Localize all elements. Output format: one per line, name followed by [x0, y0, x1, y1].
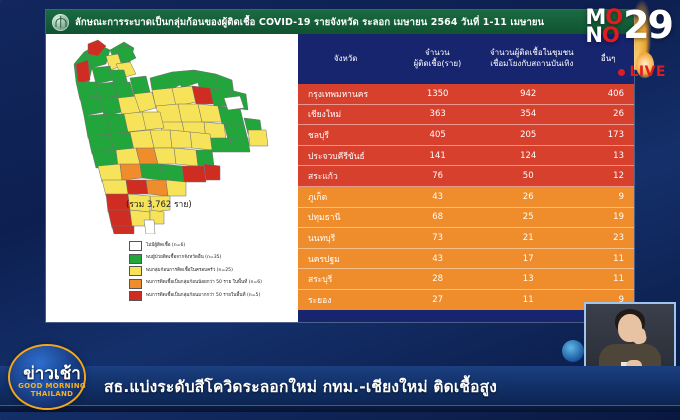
slide-body: (รวม 3,762 ราย) ไม่มีผู้ติดเชื้อ (n=6) พ…	[46, 34, 634, 322]
ministry-of-public-health-emblem-icon	[52, 14, 69, 31]
legend-label: พบผู้ป่วยติดเชื้อจากจังหวัดอื่น (n=35)	[146, 256, 221, 261]
cell-other: 11	[577, 274, 634, 284]
mono29-channel-logo: MO NO 29	[585, 8, 672, 44]
column-header-linked: จำนวนผู้ติดเชื้อในชุมชน เชื่อมโยงกับสถาน…	[481, 48, 582, 70]
legend-label: พบการติดเชื้อเป็นกลุ่มก้อนมากกว่า 50 ราย…	[146, 294, 260, 299]
mono-text-line2: NO	[585, 26, 622, 44]
legend-swatch-orange	[129, 279, 142, 289]
cell-province: ภูเก็ต	[298, 190, 395, 204]
table-row: นนทบุรี 73 21 23	[298, 228, 634, 249]
column-header-linked-line1: จำนวนผู้ติดเชื้อในชุมชน	[483, 48, 580, 59]
headline-text: สธ.แบ่งระดับสีโควิดระลอกใหม่ กทม.-เชียงใ…	[104, 366, 497, 406]
table-row: ชลบุรี 405 205 173	[298, 125, 634, 146]
table-header-row: จังหวัด จำนวน ผู้ติดเชื้อ(ราย) จำนวนผู้ต…	[298, 34, 634, 84]
cell-cases: 27	[395, 295, 479, 305]
cell-linked: 13	[480, 274, 577, 284]
cell-linked: 11	[480, 295, 577, 305]
cell-cases: 1350	[395, 89, 479, 99]
cell-cases: 76	[395, 171, 479, 181]
show-logo: ข่าวเช้า GOOD MORNING THAILAND	[2, 342, 102, 418]
slide-title: ลักษณะการระบาดเป็นกลุ่มก้อนของผู้ติดเชื้…	[75, 15, 544, 30]
column-header-linked-line2: เชื่อมโยงกับสถานบันเทิง	[483, 59, 580, 70]
cell-other: 9	[577, 192, 634, 202]
table-row: ภูเก็ต 43 26 9	[298, 187, 634, 208]
cell-province: สระบุรี	[298, 272, 395, 286]
cell-cases: 68	[395, 212, 479, 222]
legend-swatch-none	[129, 241, 142, 251]
cell-other: 12	[577, 171, 634, 181]
slide-header: ลักษณะการระบาดเป็นกลุ่มก้อนของผู้ติดเชื้…	[46, 10, 634, 34]
cell-other: 23	[577, 233, 634, 243]
table-row: สระบุรี 28 13 11	[298, 269, 634, 290]
table-row: สระแก้ว 76 50 12	[298, 166, 634, 187]
table-row: ปทุมธานี 68 25 19	[298, 208, 634, 229]
cell-other: 26	[577, 109, 634, 119]
thailand-choropleth-map: (รวม 3,762 ราย) ไม่มีผู้ติดเชื้อ (n=6) พ…	[54, 34, 300, 322]
infographic-slide: ลักษณะการระบาดเป็นกลุ่มก้อนของผู้ติดเชื้…	[46, 10, 634, 322]
table-row: นครปฐม 43 17 11	[298, 249, 634, 270]
cell-other: 19	[577, 212, 634, 222]
cell-linked: 205	[480, 130, 577, 140]
live-badge: LIVE	[618, 64, 666, 80]
legend-swatch-red	[129, 291, 142, 301]
column-header-cases-line1: จำนวน	[395, 48, 479, 59]
cell-cases: 28	[395, 274, 479, 284]
cell-other: 173	[577, 130, 634, 140]
legend-label: พบการติดเชื้อเป็นกลุ่มก้อนน้อยกว่า 50 รา…	[146, 281, 262, 286]
show-logo-english-line1: GOOD MORNING	[2, 382, 102, 390]
cell-other: 11	[577, 254, 634, 264]
legend-label: พบกลุ่มก้อนการติดเชื้อในครอบครัว (n=25)	[146, 269, 233, 274]
column-header-province: จังหวัด	[298, 54, 393, 65]
cell-linked: 942	[480, 89, 577, 99]
cell-cases: 73	[395, 233, 479, 243]
cell-cases: 43	[395, 192, 479, 202]
column-header-cases-line2: ผู้ติดเชื้อ(ราย)	[395, 59, 479, 70]
cell-linked: 50	[480, 171, 577, 181]
column-header-other: อื่นๆ	[582, 54, 634, 65]
table-row: ประจวบคีรีขันธ์ 141 124 13	[298, 146, 634, 167]
cell-province: เชียงใหม่	[298, 107, 395, 121]
lower-third-banner: สธ.แบ่งระดับสีโควิดระลอกใหม่ กทม.-เชียงใ…	[0, 366, 680, 406]
table-row: กรุงเทพมหานคร 1350 942 406	[298, 84, 634, 105]
cell-linked: 25	[480, 212, 577, 222]
cell-cases: 141	[395, 151, 479, 161]
cell-linked: 21	[480, 233, 577, 243]
cell-other: 13	[577, 151, 634, 161]
cell-province: ชลบุรี	[298, 128, 395, 142]
mono-channel-number: 29	[623, 10, 672, 41]
cell-province: นครปฐม	[298, 252, 395, 266]
province-cases-table: จังหวัด จำนวน ผู้ติดเชื้อ(ราย) จำนวนผู้ต…	[298, 34, 634, 322]
live-label: LIVE	[629, 64, 666, 80]
cell-linked: 26	[480, 192, 577, 202]
cell-province: กรุงเทพมหานคร	[298, 87, 395, 101]
legend-label: ไม่มีผู้ติดเชื้อ (n=6)	[146, 244, 185, 249]
legend-swatch-green	[129, 254, 142, 264]
cell-province: สระแก้ว	[298, 169, 395, 183]
cell-cases: 405	[395, 130, 479, 140]
cell-linked: 354	[480, 109, 577, 119]
column-header-cases: จำนวน ผู้ติดเชื้อ(ราย)	[393, 48, 481, 70]
cell-province: นนทบุรี	[298, 231, 395, 245]
broadcast-screen: ลักษณะการระบาดเป็นกลุ่มก้อนของผู้ติดเชื้…	[0, 0, 680, 420]
show-logo-english-line2: THAILAND	[2, 390, 102, 398]
live-dot-icon	[618, 69, 625, 76]
cell-linked: 17	[480, 254, 577, 264]
cell-linked: 124	[480, 151, 577, 161]
cell-province: ระยอง	[298, 293, 395, 307]
cell-cases: 43	[395, 254, 479, 264]
mono-wordmark: MO NO	[585, 8, 622, 44]
cell-province: ประจวบคีรีขันธ์	[298, 149, 395, 163]
cell-other: 406	[577, 89, 634, 99]
legend-swatch-yellow	[129, 266, 142, 276]
cell-cases: 363	[395, 109, 479, 119]
table-row: เชียงใหม่ 363 354 26	[298, 105, 634, 126]
cell-province: ปทุมธานี	[298, 210, 395, 224]
studio-orb-decoration	[562, 340, 584, 362]
map-total-label: (รวม 3,762 ราย)	[126, 197, 192, 211]
